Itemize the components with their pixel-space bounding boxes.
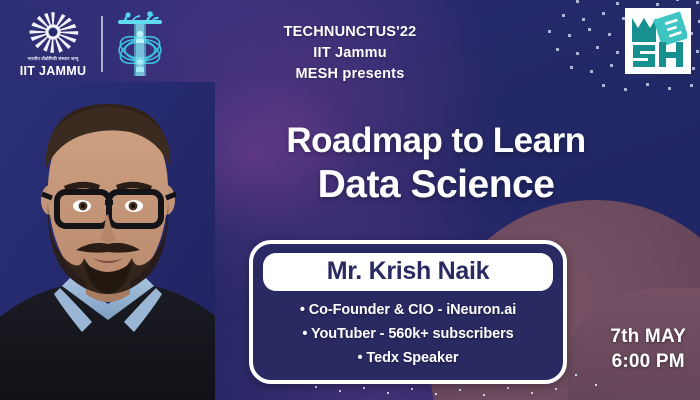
mesh-logo-icon	[629, 12, 687, 70]
speaker-name: Mr. Krish Naik	[327, 257, 490, 285]
event-datetime: 7th MAY 6:00 PM	[610, 324, 686, 374]
credential-item: • Tedx Speaker	[263, 346, 553, 370]
event-time: 6:00 PM	[610, 349, 686, 374]
event-poster: भारतीय प्रौद्योगिकी संस्थान जम्मू IIT JA…	[0, 0, 700, 400]
mesh-logo	[625, 8, 691, 74]
page-title: Roadmap to Learn Data Science	[190, 120, 682, 208]
iit-name-label: IIT JAMMU	[20, 64, 87, 78]
title-line-2: Data Science	[190, 162, 682, 208]
speaker-name-pill: Mr. Krish Naik	[263, 253, 553, 291]
speaker-card: Mr. Krish Naik • Co-Founder & CIO - iNeu…	[249, 240, 567, 384]
speaker-credentials: • Co-Founder & CIO - iNeuron.ai • YouTub…	[263, 298, 553, 370]
technunctus-logo-icon	[112, 10, 168, 78]
logo-divider	[101, 16, 103, 72]
speaker-photo	[0, 82, 215, 400]
institute-logos: भारतीय प्रौद्योगिकी संस्थान जम्मू IIT JA…	[14, 10, 168, 78]
credential-item: • YouTuber - 560k+ subscribers	[263, 322, 553, 346]
title-line-1: Roadmap to Learn	[190, 120, 682, 162]
iit-jammu-logo: भारतीय प्रौद्योगिकी संस्थान जम्मू IIT JA…	[14, 10, 92, 78]
iit-sunburst-icon	[26, 10, 80, 54]
event-date: 7th MAY	[610, 324, 686, 349]
credential-item: • Co-Founder & CIO - iNeuron.ai	[263, 298, 553, 322]
iit-hindi-name: भारतीय प्रौद्योगिकी संस्थान जम्मू	[28, 56, 79, 62]
